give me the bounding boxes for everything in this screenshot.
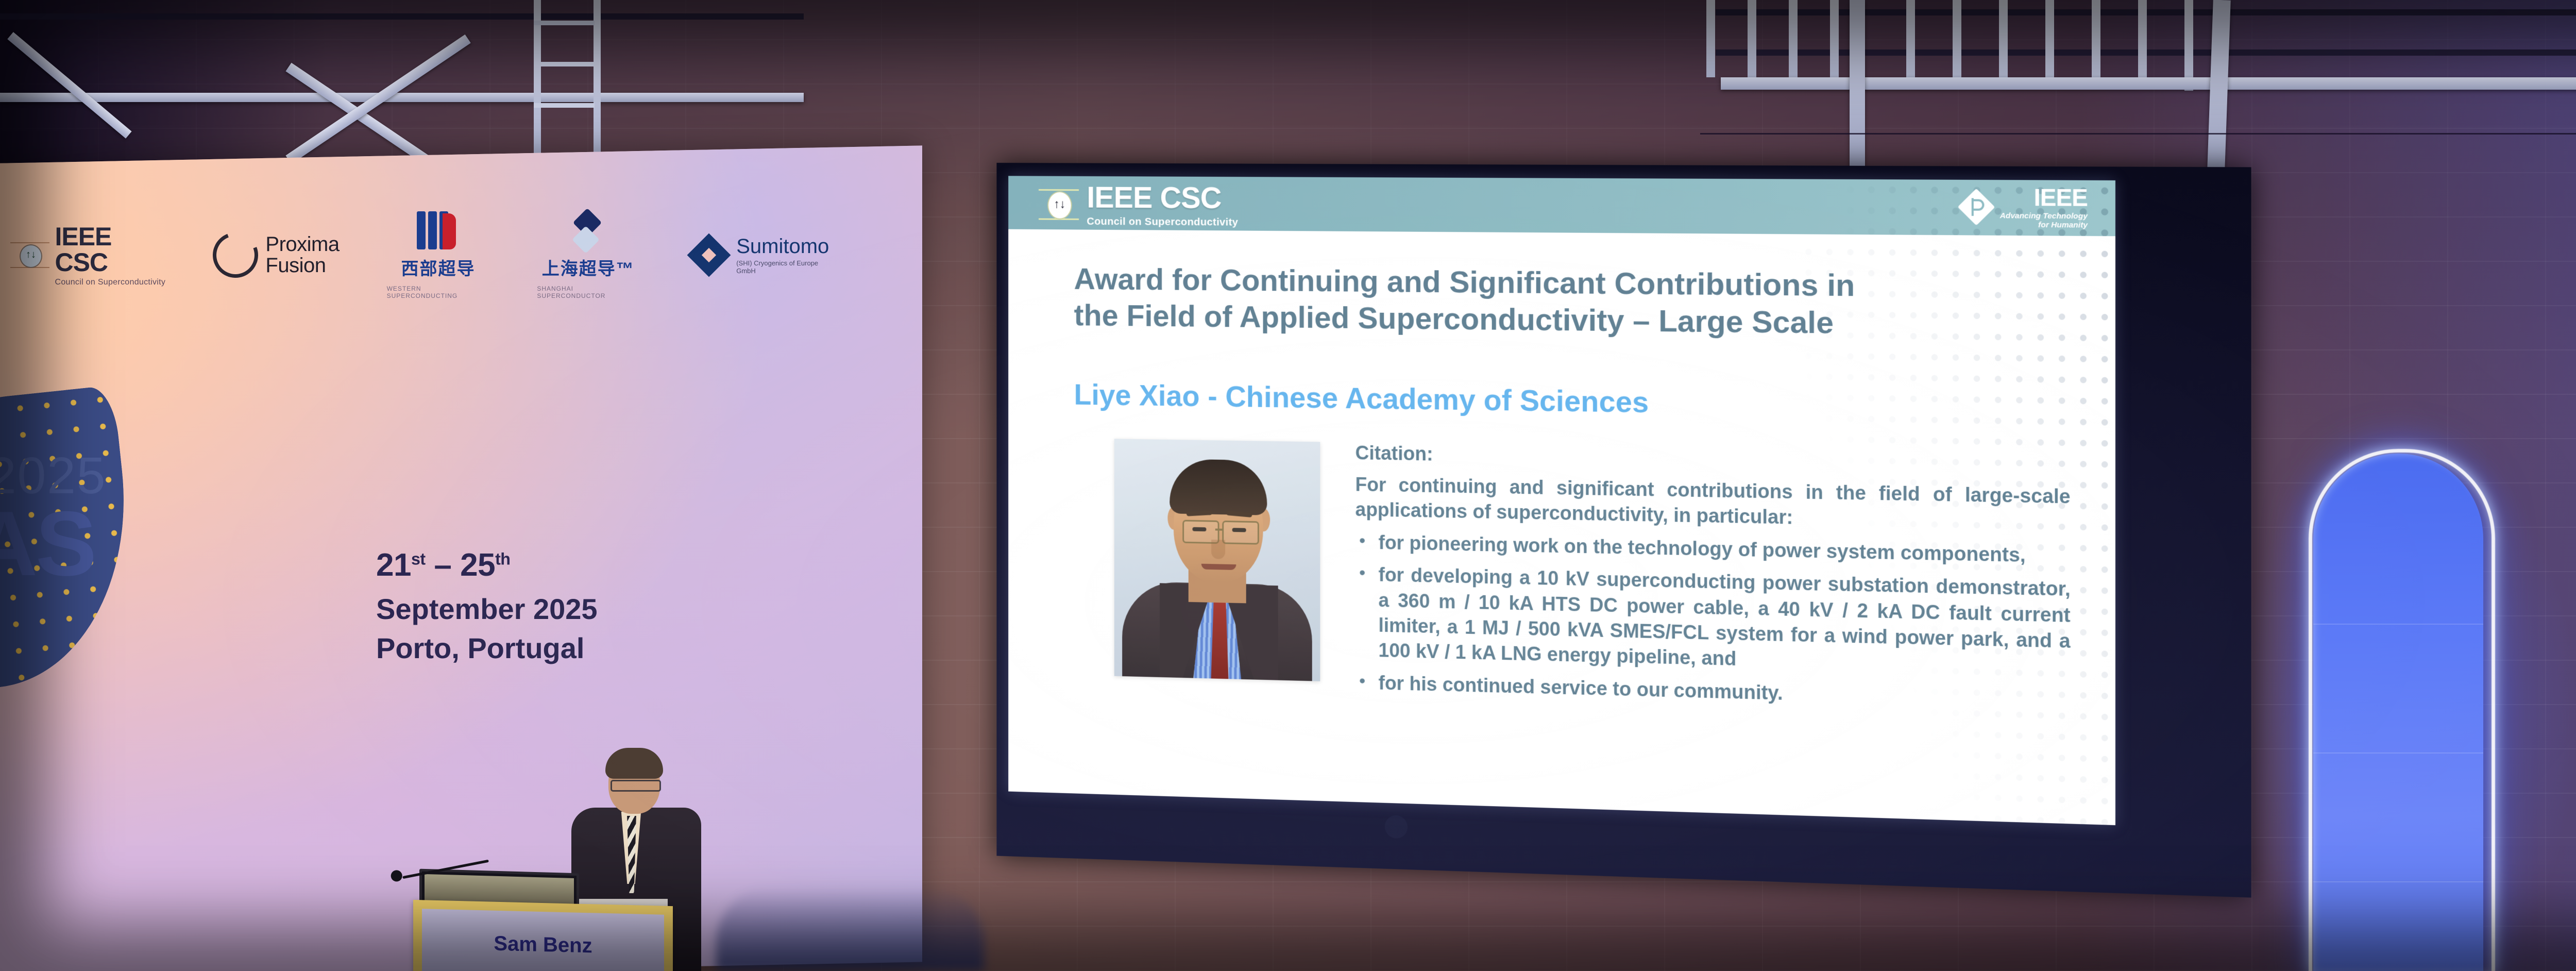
audience-silhouette: [716, 886, 984, 971]
sponsor-logo-western-superconducting: 西部超导 WESTERN SUPERCONDUCTING: [387, 211, 490, 299]
recipient-portrait-photo: [1114, 439, 1320, 681]
sponsor-cn-name: 上海超导™: [542, 255, 635, 280]
sponsor-title: IEEE CSC: [55, 224, 165, 275]
ceiling-beam: [0, 93, 804, 102]
citation-block: Citation: For continuing and significant…: [1355, 443, 2071, 714]
ceiling-beam: [1721, 77, 2576, 90]
speaker-glasses-icon: [611, 780, 661, 792]
overhead-cable: [1700, 133, 2576, 135]
rail-slat: [1748, 0, 1756, 78]
ladder-step: [534, 21, 595, 25]
citation-bullet: for pioneering work on the technology of…: [1355, 530, 2071, 570]
podium-nameplate-frame: Sam Benz: [413, 900, 673, 971]
ladder-step: [534, 62, 595, 66]
rail-slat: [1789, 0, 1798, 79]
slide-recipient-name: Liye Xiao - Chinese Academy of Sciences: [1074, 378, 1649, 420]
sponsor-logo-row: ↑↓ IEEE CSC Council on Superconductivity…: [10, 206, 835, 304]
conference-month-year: September 2025: [376, 592, 598, 626]
rail-slat: [1999, 0, 2008, 87]
citation-lead-text: For continuing and significant contribut…: [1355, 473, 2071, 537]
conference-backdrop-banner: ↑↓ IEEE CSC Council on Superconductivity…: [0, 145, 922, 971]
ceiling-post: [2207, 0, 2230, 170]
sponsor-logo-ieee-csc: ↑↓ IEEE CSC Council on Superconductivity: [10, 224, 165, 287]
presentation-slide: ↑↓ IEEE CSC Council on Superconductivity…: [1008, 176, 2115, 825]
rail-slat: [1830, 0, 1839, 80]
sumitomo-diamond-icon: [687, 233, 729, 277]
rail-slat: [2045, 0, 2054, 88]
slide-band-left-title: IEEE CSC: [1087, 182, 1238, 213]
slide-ieee-logo: IEEE Advancing Technology for Humanity: [1959, 185, 2088, 229]
citation-label: Citation:: [1355, 443, 2071, 476]
ieee-diamond-icon: [1959, 190, 1994, 224]
rail-slat: [2092, 0, 2100, 89]
sponsor-subtitle: (SHI) Cryogenics of Europe GmbH: [736, 259, 835, 275]
truss-diagonal: [7, 32, 131, 139]
sponsor-latin-name: SHANGHAI SUPERCONDUCTOR: [537, 285, 639, 299]
rail-slat: [1953, 0, 1961, 86]
sponsor-line2: Fusion: [265, 255, 339, 276]
truss-diagonal: [285, 63, 470, 170]
conference-photo-scene: ↑↓ IEEE CSC Council on Superconductivity…: [0, 0, 2576, 971]
eucas-wordmark: CAS: [0, 491, 95, 596]
rail-bar: [0, 13, 804, 20]
ladder-step: [534, 103, 595, 108]
sponsor-logo-shanghai-superconductor: 上海超导™ SHANGHAI SUPERCONDUCTOR: [537, 211, 639, 299]
sponsor-cn-name: 西部超导: [401, 255, 475, 280]
portrait-glasses-icon: [1222, 521, 1259, 545]
citation-bullet-list: for pioneering work on the technology of…: [1355, 530, 2071, 714]
slide-band-right-title: IEEE: [2034, 186, 2088, 210]
slide-header-band: ↑↓ IEEE CSC Council on Superconductivity…: [1008, 176, 2115, 236]
citation-bullet: for developing a 10 kV superconducting p…: [1355, 562, 2071, 681]
slide-award-title: Award for Continuing and Significant Con…: [1074, 261, 1877, 342]
podium-nameplate-text: Sam Benz: [422, 930, 664, 959]
sponsor-line1: Proxima: [265, 234, 339, 255]
rail-slat: [2138, 0, 2147, 90]
wst-icon: [416, 211, 460, 252]
proxima-ring-icon: [206, 225, 265, 285]
podium: Sam Benz: [407, 871, 685, 971]
lit-stone-archway: [2313, 454, 2483, 971]
slide-ieee-csc-logo: ↑↓ IEEE CSC Council on Superconductivity: [1039, 182, 1238, 227]
ieee-csc-icon: ↑↓: [1039, 184, 1079, 225]
shanghai-superconductor-icon: [572, 211, 605, 252]
arch-led-outline: [2309, 449, 2495, 971]
slide-band-left-subtitle: Council on Superconductivity: [1087, 216, 1238, 227]
eucas-conference-logo: 2025 CAS: [0, 397, 216, 727]
ieee-tagline-line1: Advancing Technology: [2000, 212, 2088, 220]
ieee-csc-icon: ↑↓: [10, 239, 47, 271]
rail-slat: [1706, 0, 1715, 77]
sponsor-latin-name: WESTERN SUPERCONDUCTING: [387, 285, 490, 299]
sponsor-title: Sumitomo: [736, 236, 835, 257]
rail-slat: [1906, 0, 1915, 85]
sponsor-subtitle: Council on Superconductivity: [55, 278, 165, 287]
ladder-rail: [594, 0, 601, 155]
ceiling-post: [1850, 0, 1865, 170]
conference-date-location: 21st – 25th September 2025 Porto, Portug…: [376, 546, 598, 665]
conference-location: Porto, Portugal: [376, 631, 598, 665]
sponsor-logo-sumitomo: Sumitomo (SHI) Cryogenics of Europe GmbH: [687, 233, 835, 277]
conference-days: 21st – 25th: [376, 546, 598, 584]
projection-screen: ↑↓ IEEE CSC Council on Superconductivity…: [996, 163, 2251, 898]
ceiling-structure: [0, 0, 2576, 170]
sponsor-logo-proxima-fusion: Proxima Fusion: [213, 232, 339, 278]
ieee-tagline-line2: for Humanity: [2038, 221, 2088, 229]
